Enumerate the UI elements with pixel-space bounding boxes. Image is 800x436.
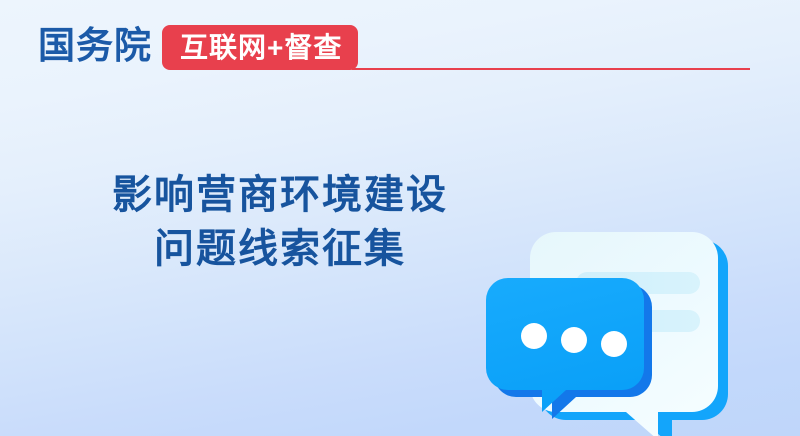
program-badge-label: 互联网+督查 — [180, 34, 342, 62]
page-title: 影响营商环境建设 问题线索征集 — [0, 168, 560, 276]
typing-dot-2 — [561, 327, 587, 353]
government-banner: 国务院 互联网+督查 影响营商环境建设 问题线索征集 — [0, 0, 800, 436]
page-title-line-1: 影响营商环境建设 — [0, 168, 560, 222]
organization-name: 国务院 — [38, 24, 152, 68]
page-title-line-2: 问题线索征集 — [0, 222, 560, 276]
program-badge: 互联网+督查 — [162, 25, 358, 70]
typing-dot-3 — [601, 331, 627, 357]
header-divider-rule — [352, 68, 750, 70]
banner-header: 国务院 互联网+督查 — [0, 0, 800, 96]
chat-bubbles-illustration — [480, 210, 800, 436]
typing-dot-1 — [521, 323, 547, 349]
